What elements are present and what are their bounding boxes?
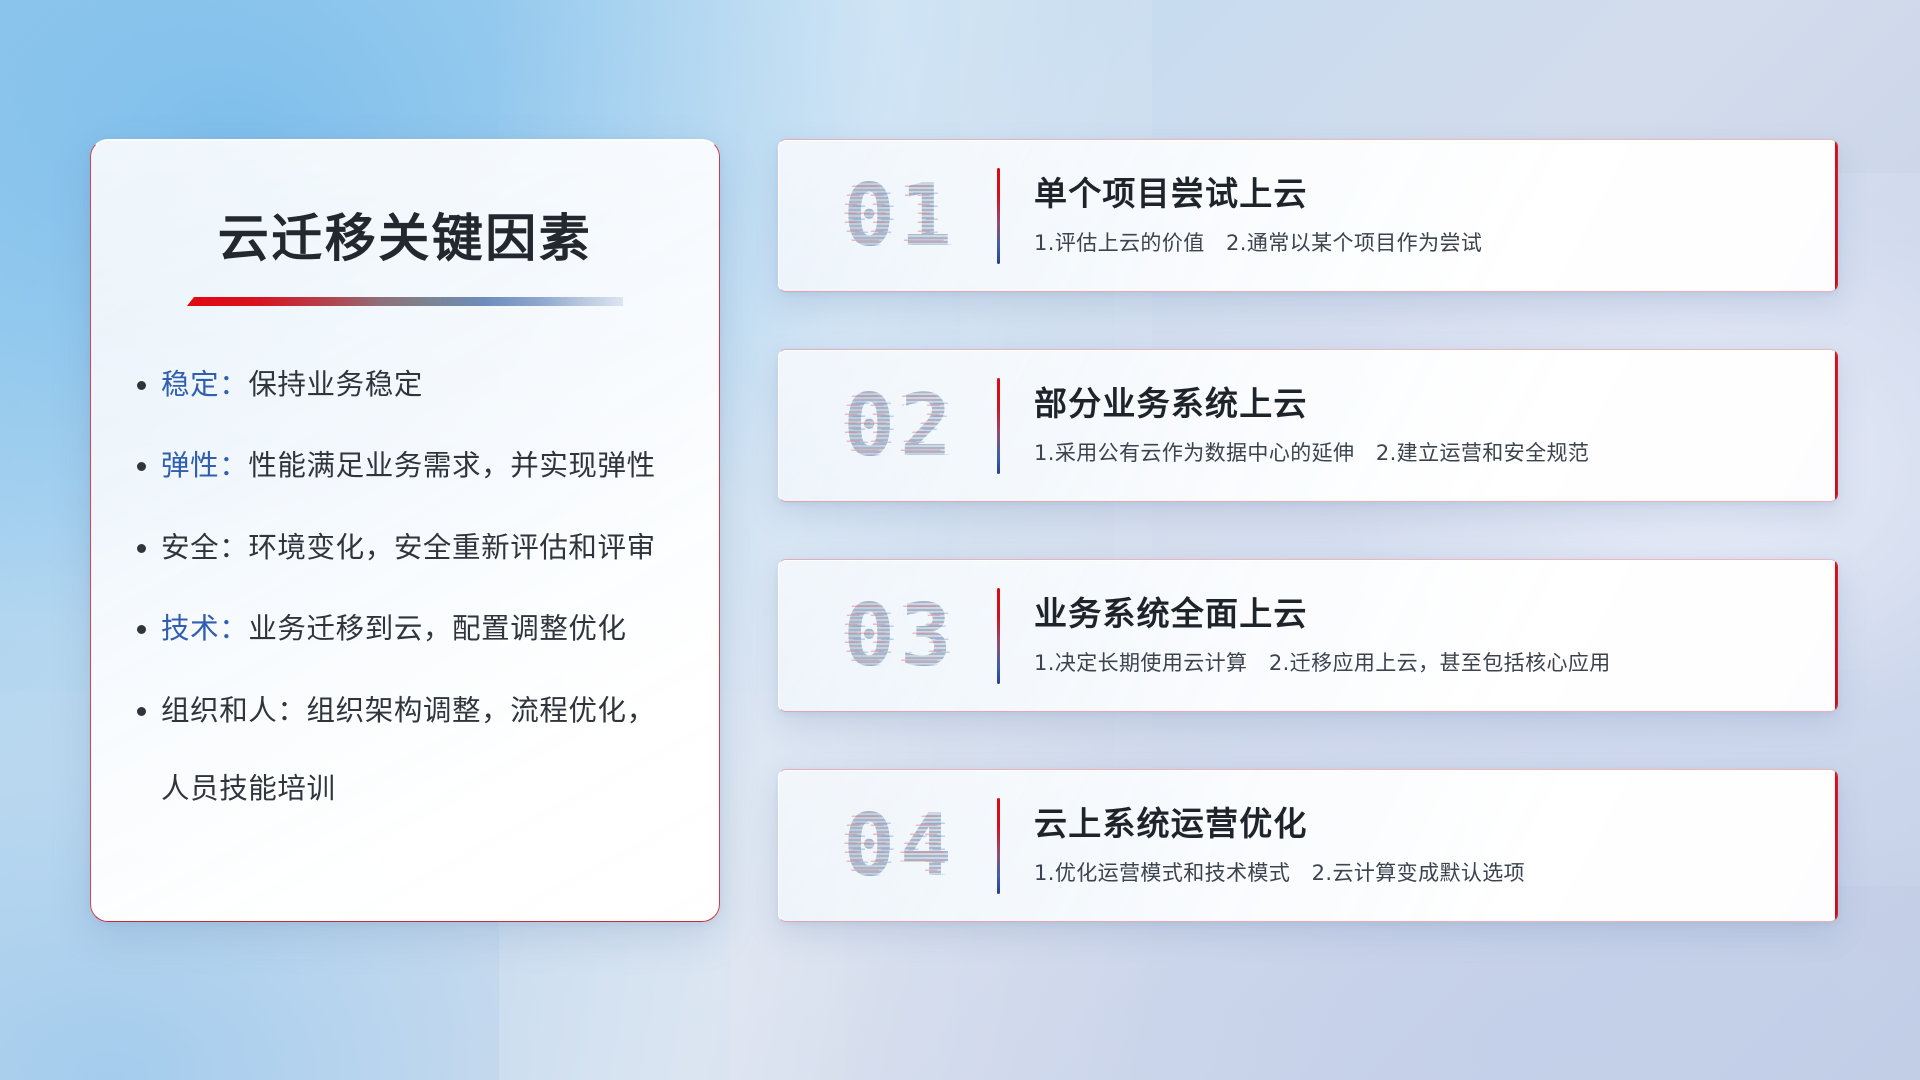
step-number-glyph: 040404 bbox=[843, 803, 957, 889]
step-accent-divider bbox=[997, 588, 1000, 684]
step-description: 1.评估上云的价值 2.通常以某个项目作为尝试 bbox=[1034, 227, 1807, 257]
factor-label: 技术： bbox=[161, 612, 248, 645]
factor-item: 弹性：性能满足业务需求，并实现弹性 bbox=[161, 447, 675, 485]
step-card[interactable]: 030303业务系统全面上云1.决定长期使用云计算 2.迁移应用上云，甚至包括核… bbox=[778, 559, 1838, 712]
slide-stage: 云迁移关键因素 稳定：保持业务稳定弹性：性能满足业务需求，并实现弹性安全：环境变… bbox=[0, 0, 1920, 1080]
step-card[interactable]: 040404云上系统运营优化1.优化运营模式和技术模式 2.云计算变成默认选项 bbox=[778, 769, 1838, 922]
key-factors-list: 稳定：保持业务稳定弹性：性能满足业务需求，并实现弹性安全：环境变化，安全重新评估… bbox=[135, 366, 675, 809]
factor-item: 稳定：保持业务稳定 bbox=[161, 366, 675, 404]
factor-text: 性能满足业务需求，并实现弹性 bbox=[248, 449, 655, 482]
factor-label: 稳定： bbox=[161, 368, 248, 401]
step-card[interactable]: 020202部分业务系统上云1.采用公有云作为数据中心的延伸 2.建立运营和安全… bbox=[778, 349, 1838, 502]
title-underline-rule bbox=[187, 297, 623, 306]
factor-item: 安全：环境变化，安全重新评估和评审 bbox=[161, 529, 675, 567]
step-number-ghost-red: 01 bbox=[839, 173, 953, 259]
migration-steps-list: 010101单个项目尝试上云1.评估上云的价值 2.通常以某个项目作为尝试020… bbox=[778, 139, 1838, 922]
step-body: 单个项目尝试上云1.评估上云的价值 2.通常以某个项目作为尝试 bbox=[1034, 174, 1837, 258]
factor-text: 环境变化，安全重新评估和评审 bbox=[248, 531, 655, 564]
step-number-badge: 040404 bbox=[779, 770, 997, 921]
step-title: 部分业务系统上云 bbox=[1034, 384, 1807, 424]
key-factors-panel: 云迁移关键因素 稳定：保持业务稳定弹性：性能满足业务需求，并实现弹性安全：环境变… bbox=[90, 139, 720, 922]
step-number-ghost-blue: 03 bbox=[847, 593, 961, 679]
step-number-ghost-blue: 02 bbox=[847, 383, 961, 469]
step-description: 1.决定长期使用云计算 2.迁移应用上云，甚至包括核心应用 bbox=[1034, 647, 1807, 677]
step-card[interactable]: 010101单个项目尝试上云1.评估上云的价值 2.通常以某个项目作为尝试 bbox=[778, 139, 1838, 292]
factor-item: 组织和人：组织架构调整，流程优化，人员技能培训 bbox=[161, 692, 675, 809]
step-accent-divider bbox=[997, 168, 1000, 264]
step-number-ghost-red: 04 bbox=[839, 803, 953, 889]
step-number-badge: 010101 bbox=[779, 140, 997, 291]
step-title: 云上系统运营优化 bbox=[1034, 804, 1807, 844]
factor-text: 业务迁移到云，配置调整优化 bbox=[248, 612, 626, 645]
step-number-ghost-blue: 01 bbox=[847, 173, 961, 259]
step-title: 业务系统全面上云 bbox=[1034, 594, 1807, 634]
step-number-badge: 030303 bbox=[779, 560, 997, 711]
step-number-badge: 020202 bbox=[779, 350, 997, 501]
step-number-ghost-blue: 04 bbox=[847, 803, 961, 889]
step-description: 1.采用公有云作为数据中心的延伸 2.建立运营和安全规范 bbox=[1034, 437, 1807, 467]
step-number-ghost-red: 03 bbox=[839, 593, 953, 679]
step-title: 单个项目尝试上云 bbox=[1034, 174, 1807, 214]
factor-text: 组织架构调整，流程优化， bbox=[307, 694, 656, 727]
page-title: 云迁移关键因素 bbox=[135, 197, 675, 271]
step-accent-divider bbox=[997, 798, 1000, 894]
factor-label: 安全： bbox=[161, 531, 248, 564]
factor-item: 技术：业务迁移到云，配置调整优化 bbox=[161, 610, 675, 648]
step-accent-divider bbox=[997, 378, 1000, 474]
step-number-glyph: 030303 bbox=[843, 593, 957, 679]
step-body: 部分业务系统上云1.采用公有云作为数据中心的延伸 2.建立运营和安全规范 bbox=[1034, 384, 1837, 468]
step-body: 云上系统运营优化1.优化运营模式和技术模式 2.云计算变成默认选项 bbox=[1034, 804, 1837, 888]
factor-text: 保持业务稳定 bbox=[248, 368, 423, 401]
step-body: 业务系统全面上云1.决定长期使用云计算 2.迁移应用上云，甚至包括核心应用 bbox=[1034, 594, 1837, 678]
key-factors-panel-inner: 云迁移关键因素 稳定：保持业务稳定弹性：性能满足业务需求，并实现弹性安全：环境变… bbox=[91, 140, 719, 809]
factor-text-continuation: 人员技能培训 bbox=[161, 770, 675, 808]
step-description: 1.优化运营模式和技术模式 2.云计算变成默认选项 bbox=[1034, 857, 1807, 887]
factor-label: 组织和人： bbox=[161, 694, 307, 727]
factor-label: 弹性： bbox=[161, 449, 248, 482]
step-number-glyph: 010101 bbox=[843, 173, 957, 259]
step-number-glyph: 020202 bbox=[843, 383, 957, 469]
step-number-ghost-red: 02 bbox=[839, 383, 953, 469]
